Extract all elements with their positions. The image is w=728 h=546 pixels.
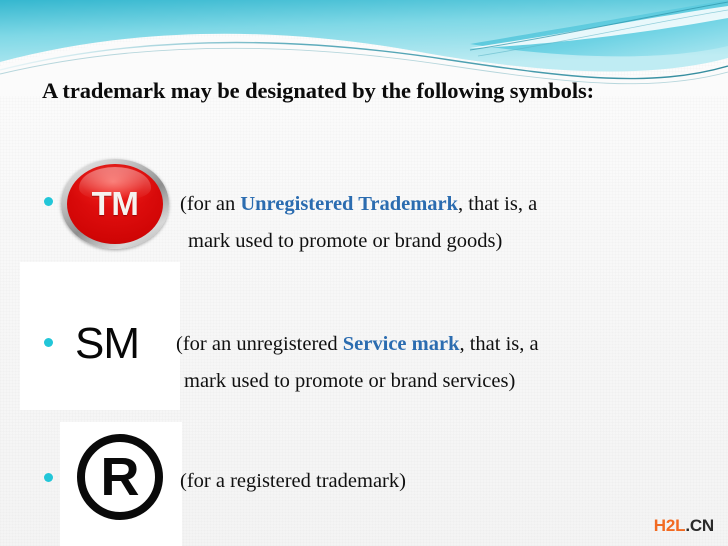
tm-description-line-1: (for an Unregistered Trademark, that is,… — [180, 186, 537, 223]
r-description-line-1: (for a registered trademark) — [180, 463, 406, 500]
sm-description-line-2: mark used to promote or brand services) — [184, 363, 515, 400]
watermark-secondary: .CN — [685, 516, 714, 535]
tm-line1-post: , that is, a — [458, 193, 537, 215]
sm-line1-post: , that is, a — [459, 333, 538, 355]
tm-icon-label: TM — [67, 164, 163, 244]
sm-line1-pre: (for an unregistered — [176, 333, 343, 355]
tm-icon-face: TM — [67, 164, 163, 244]
sm-description-line-1: (for an unregistered Service mark, that … — [176, 326, 539, 363]
slide-canvas: A trademark may be designated by the fol… — [0, 0, 728, 546]
registered-trademark-r-icon: R — [77, 434, 163, 520]
sm-line1-highlight: Service mark — [343, 333, 460, 355]
tm-line1-highlight: Unregistered Trademark — [240, 193, 458, 215]
bullet-dot-r — [44, 473, 53, 482]
tm-description-line-2: mark used to promote or brand goods) — [188, 223, 502, 260]
bullet-dot-sm — [44, 338, 53, 347]
watermark-primary: H2L — [654, 516, 686, 535]
watermark: H2L.CN — [654, 516, 714, 536]
registered-icon-label: R — [85, 442, 155, 512]
slide-title: A trademark may be designated by the fol… — [42, 78, 712, 104]
tm-line1-pre: (for an — [180, 193, 240, 215]
trademark-tm-icon: TM — [61, 159, 169, 249]
bullet-dot-tm — [44, 197, 53, 206]
service-mark-sm-icon: SM — [75, 322, 139, 366]
